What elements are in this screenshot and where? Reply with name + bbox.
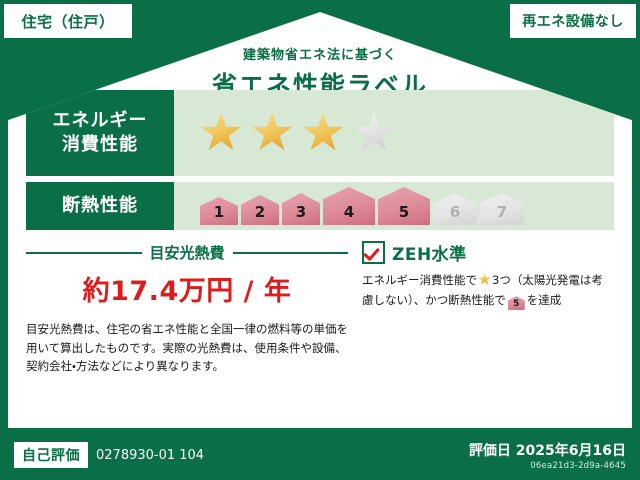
star-empty-icon [353, 112, 395, 154]
insulation-level-badge: 2 [241, 195, 279, 225]
star-filled-icon [200, 112, 242, 154]
title-subtitle: 建築物省エネ法に基づく [8, 44, 632, 63]
star-filled-icon [302, 112, 344, 154]
insulation-performance-label: 断熱性能 [26, 182, 174, 230]
star-icon [478, 273, 491, 286]
insulation-badge-track: 1234567 [200, 187, 527, 225]
renewable-energy-tag: 再エネ設備なし [510, 4, 636, 38]
zeh-title-text: ZEH水準 [392, 240, 467, 265]
insulation-performance-row: 断熱性能 1234567 [26, 182, 614, 230]
insulation-level-badge: 3 [282, 193, 320, 225]
label-content: エネルギー 消費性能 断熱性能 1234567 目安光熱費 [26, 90, 614, 416]
insulation-level-badge: 7 [480, 193, 524, 225]
self-evaluation-badge: 自己評価 [14, 442, 88, 468]
cost-rule-right [233, 252, 349, 254]
insulation-level-badge: 6 [433, 193, 477, 225]
insulation-level-badge: 1 [200, 197, 238, 225]
cost-rule-left [26, 252, 142, 254]
building-type-tag: 住宅（住戸） [4, 4, 132, 38]
estimated-cost-value: 約17.4万円 / 年 [26, 269, 348, 308]
footer-right-group: 評価日 2025年6月16日 06ea21d3-2d9a-4645 [469, 440, 626, 471]
energy-label-line1: エネルギー [53, 109, 148, 133]
zeh-heading: ZEH水準 [362, 240, 614, 265]
energy-performance-label: エネルギー 消費性能 [26, 90, 174, 176]
cost-disclaimer-text: 目安光熱費は、住宅の省エネ性能と全国一律の燃料等の単価を用いて算出したものです。… [26, 320, 348, 376]
cost-heading: 目安光熱費 [26, 242, 348, 263]
evaluation-id: 0278930-01 104 [96, 448, 204, 463]
zeh-checkbox-checked-icon [362, 241, 385, 264]
energy-performance-label: 住宅（住戸） 再エネ設備なし 建築物省エネ法に基づく 省エネ性能ラベル エネルギ… [0, 0, 640, 480]
insulation-level-badge: 4 [323, 187, 375, 225]
zeh-desc-part2: を達成 [527, 293, 562, 307]
insulation-label-text: 断熱性能 [62, 194, 138, 218]
house-card: 建築物省エネ法に基づく 省エネ性能ラベル エネルギー 消費性能 断熱性能 123… [8, 12, 632, 428]
cost-section: 目安光熱費 約17.4万円 / 年 目安光熱費は、住宅の省エネ性能と全国一律の燃… [26, 238, 348, 376]
energy-label-line2: 消費性能 [62, 133, 138, 157]
label-footer: 自己評価 0278930-01 104 評価日 2025年6月16日 06ea2… [0, 430, 640, 480]
insulation-level-icon: 5 [508, 296, 525, 310]
evaluation-hash: 06ea21d3-2d9a-4645 [469, 461, 626, 471]
zeh-section: ZEH水準 エネルギー消費性能で3つ（太陽光発電は考慮しない）、かつ断熱性能で5… [348, 238, 614, 376]
star-filled-icon [251, 112, 293, 154]
zeh-desc-part1: エネルギー消費性能で [362, 273, 477, 287]
zeh-description: エネルギー消費性能で3つ（太陽光発電は考慮しない）、かつ断熱性能で5を達成 [362, 270, 614, 310]
energy-performance-row: エネルギー 消費性能 [26, 90, 614, 176]
insulation-rating: 1234567 [174, 182, 614, 230]
insulation-level-badge: 5 [378, 187, 430, 225]
evaluation-date: 評価日 2025年6月16日 [469, 440, 626, 460]
energy-star-rating [174, 90, 614, 176]
lower-section: 目安光熱費 約17.4万円 / 年 目安光熱費は、住宅の省エネ性能と全国一律の燃… [26, 238, 614, 376]
cost-heading-text: 目安光熱費 [142, 242, 233, 263]
